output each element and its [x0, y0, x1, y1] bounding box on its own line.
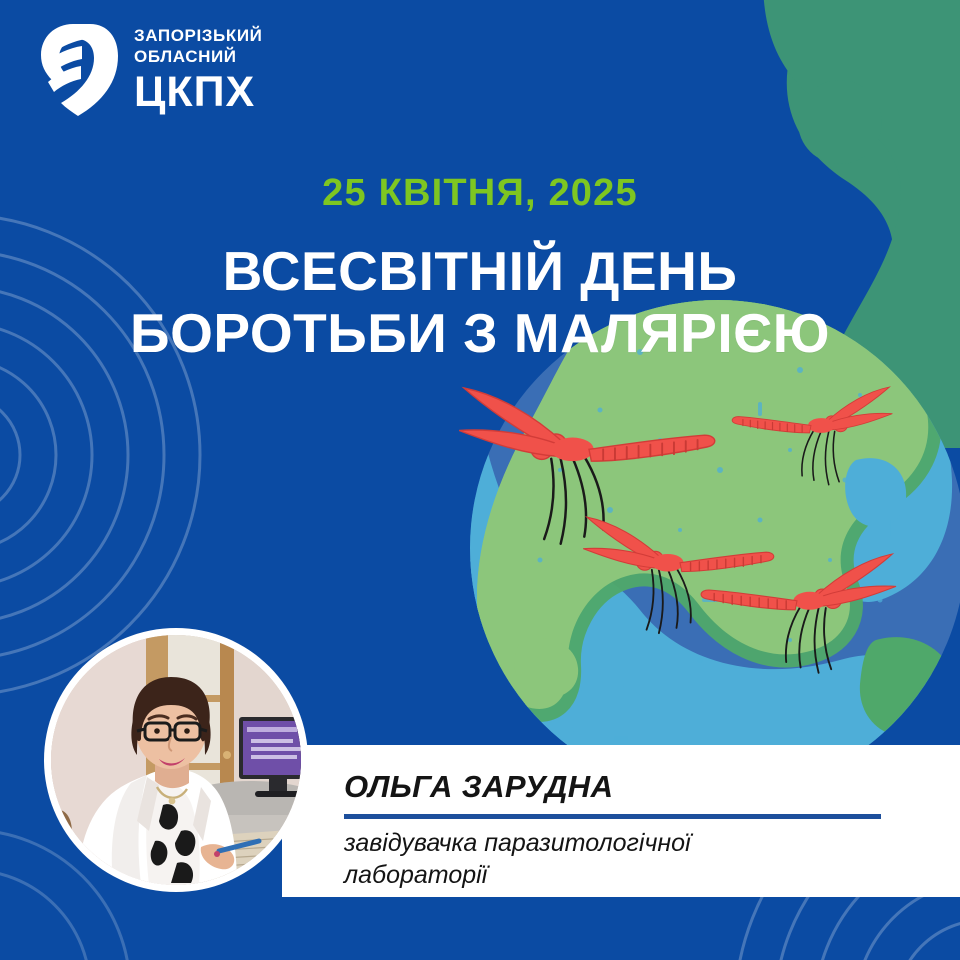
logo-line-1: ЗАПОРІЗЬКИЙ [134, 27, 263, 44]
speaker-role: завідувачка паразитологічної лабораторії [344, 828, 904, 891]
speaker-name: ОЛЬГА ЗАРУДНА [344, 771, 960, 802]
logo-line-3: ЦКПХ [134, 71, 263, 114]
speaker-role-line-1: завідувачка паразитологічної [344, 829, 691, 857]
event-date: 25 КВІТНЯ, 2025 [0, 172, 960, 215]
poster-canvas: ЗАПОРІЗЬКИЙ ОБЛАСНИЙ ЦКПХ 25 КВІТНЯ, 202… [0, 0, 960, 960]
page-title: ВСЕСВІТНІЙ ДЕНЬ БОРОТЬБИ З МАЛЯРІЄЮ [0, 241, 960, 364]
logo-line-2: ОБЛАСНИЙ [134, 48, 263, 65]
organization-logo: ЗАПОРІЗЬКИЙ ОБЛАСНИЙ ЦКПХ [36, 22, 263, 118]
page-title-line-2: БОРОТЬБИ З МАЛЯРІЄЮ [0, 303, 960, 365]
speaker-role-line-2: лабораторії [344, 861, 487, 889]
name-divider [344, 814, 881, 819]
speaker-photo [51, 635, 301, 885]
earth-globe [470, 291, 960, 806]
shield-leaf-logo-icon [36, 22, 120, 118]
avatar-ring [51, 635, 301, 885]
page-title-line-1: ВСЕСВІТНІЙ ДЕНЬ [0, 241, 960, 303]
headline-block: 25 КВІТНЯ, 2025 ВСЕСВІТНІЙ ДЕНЬ БОРОТЬБИ… [0, 172, 960, 364]
speaker-avatar [44, 628, 308, 892]
speaker-name-card: ОЛЬГА ЗАРУДНА завідувачка паразитологічн… [282, 745, 960, 897]
